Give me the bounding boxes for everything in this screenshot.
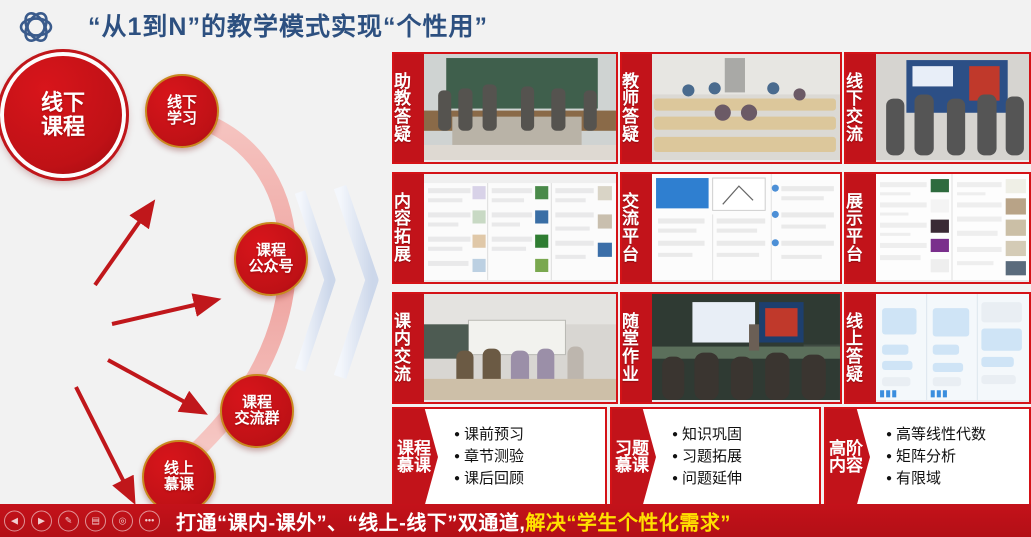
node-label-line1: 线下 [167, 95, 197, 111]
list-item: 课后回顾 [454, 468, 601, 490]
panel-cell-zhujiao-dayi[interactable]: 助教答疑 [392, 52, 618, 164]
node-label-line1: 课程 [242, 395, 272, 411]
mooc-cell-course-mooc[interactable]: 课程慕课 课前预习 章节测验 课后回顾 [392, 407, 607, 507]
panel-cell-jiaoliu-pingtai[interactable]: 交流平台 [620, 172, 842, 284]
panel-cell-xianshang-dayi[interactable]: 线上答疑 [844, 292, 1031, 404]
center-node-line1: 线下 [41, 91, 85, 115]
mooc-label-chevron: 习题慕课 [612, 409, 656, 505]
teacher-screen-photo [652, 294, 840, 402]
evidence-panel-grid: 助教答疑 教师答疑 [392, 52, 1031, 507]
panel-cell-neirong-tuozhan[interactable]: 内容拓展 [392, 172, 618, 284]
panel-label-text: 教师答疑 [622, 73, 652, 144]
list-item: 课前预习 [454, 424, 601, 446]
panel-cell-suitang-zuoye[interactable]: 随堂作业 [620, 292, 842, 404]
footer-slogan: 打通“课内-课外”、“线上-线下”双通道,解决“学生个性化需求” [176, 506, 731, 535]
mooc-label-chevron: 高阶内容 [826, 409, 870, 505]
previous-slide-button[interactable]: ◀ [4, 510, 25, 531]
node-label-line2: 交流群 [234, 411, 279, 427]
diagram-center-node: 线下 课程 [0, 52, 126, 178]
panel-label-vertical: 展示平台 [846, 174, 876, 282]
panel-label-text: 课内交流 [394, 313, 424, 384]
mooc-bullet-list: 课前预习 章节测验 课后回顾 [438, 409, 605, 505]
list-item: 有限域 [886, 468, 1025, 490]
panel-label-text: 助教答疑 [394, 73, 424, 144]
panel-cell-jiaoshi-dayi[interactable]: 教师答疑 [620, 52, 842, 164]
presentation-controls: ◀ ▶ ✎ ▤ ◎ ••• [4, 510, 160, 531]
panel-row-4: 课程慕课 课前预习 章节测验 课后回顾 习题慕课 知识巩固 [392, 407, 1031, 507]
qa-chat-screenshot [876, 294, 1029, 402]
panel-label-vertical: 助教答疑 [394, 54, 424, 162]
classroom-blackboard-photo [424, 54, 616, 162]
list-item: 章节测验 [454, 446, 601, 468]
panel-label-text: 线下交流 [846, 73, 876, 144]
zoom-button[interactable]: ◎ [112, 510, 133, 531]
mooc-label-text: 课程慕课 [397, 440, 438, 475]
flow-chevron-icon [300, 187, 372, 377]
list-item: 高等线性代数 [886, 424, 1025, 446]
mooc-bullet-list: 高等线性代数 矩阵分析 有限域 [870, 409, 1029, 505]
chat-group-screenshot [652, 174, 840, 282]
node-label-line2: 公众号 [248, 259, 293, 275]
smartboard-discussion-photo [876, 54, 1029, 162]
mooc-label-text: 习题慕课 [615, 440, 656, 475]
node-label-line2: 学习 [167, 111, 197, 127]
diagram-node-offline-study: 线下 学习 [145, 74, 219, 148]
panel-label-text: 交流平台 [622, 193, 652, 264]
more-options-button[interactable]: ••• [139, 510, 160, 531]
list-item: 知识巩固 [672, 424, 815, 446]
panel-label-vertical: 交流平台 [622, 174, 652, 282]
article-feed-screenshot [876, 174, 1029, 282]
panel-label-text: 线上答疑 [846, 313, 876, 384]
atom-logo-icon [14, 7, 58, 47]
panel-label-text: 内容拓展 [394, 193, 424, 264]
node-label-line2: 慕课 [164, 477, 194, 493]
diagram-node-online-mooc: 线上 慕课 [142, 440, 216, 514]
mooc-bullet-list: 知识巩固 习题拓展 问题延伸 [656, 409, 819, 505]
diagram-node-course-group: 课程 交流群 [220, 374, 294, 448]
next-slide-button[interactable]: ▶ [31, 510, 52, 531]
node-label-line1: 线上 [164, 461, 194, 477]
center-node-line2: 课程 [41, 115, 85, 139]
classroom-group-photo [424, 294, 616, 402]
panel-label-vertical: 线上答疑 [846, 294, 876, 402]
list-item: 习题拓展 [672, 446, 815, 468]
footer-banner: ◀ ▶ ✎ ▤ ◎ ••• 打通“课内-课外”、“线上-线下”双通道,解决“学生… [0, 504, 1031, 537]
panel-label-text: 展示平台 [846, 193, 876, 264]
mooc-cell-advanced-content[interactable]: 高阶内容 高等线性代数 矩阵分析 有限域 [824, 407, 1031, 507]
lecture-hall-seats-photo [652, 54, 840, 162]
footer-slogan-highlight: 解决“学生个性化需求” [525, 512, 731, 534]
teaching-model-diagram: 线下 课程 线下 学习 课程 公众号 课程 交流群 线上 慕课 [0, 52, 390, 504]
panel-label-vertical: 线下交流 [846, 54, 876, 162]
list-item: 问题延伸 [672, 468, 815, 490]
slide-header: “从1到N”的教学模式实现“个性用” [0, 0, 1031, 52]
panel-row-2: 内容拓展 [392, 172, 1031, 284]
panel-label-vertical: 课内交流 [394, 294, 424, 402]
diagram-node-course-wechat: 课程 公众号 [234, 222, 308, 296]
wechat-article-list-screenshot [424, 174, 616, 282]
panel-cell-xianxia-jiaoliu[interactable]: 线下交流 [844, 52, 1031, 164]
mooc-label-text: 高阶内容 [829, 440, 870, 475]
panel-cell-kenei-jiaoliu[interactable]: 课内交流 [392, 292, 618, 404]
list-item: 矩阵分析 [886, 446, 1025, 468]
panel-row-3: 课内交流 随堂作业 [392, 292, 1031, 404]
page-title: “从1到N”的教学模式实现“个性用” [88, 8, 488, 46]
mooc-label-chevron: 课程慕课 [394, 409, 438, 505]
panel-label-vertical: 随堂作业 [622, 294, 652, 402]
slide-overview-button[interactable]: ▤ [85, 510, 106, 531]
panel-row-1: 助教答疑 教师答疑 [392, 52, 1031, 164]
slide-canvas: “从1到N”的教学模式实现“个性用” [0, 0, 1031, 537]
node-label-line1: 课程 [256, 243, 286, 259]
footer-slogan-white: 打通“课内-课外”、“线上-线下”双通道, [176, 512, 525, 534]
panel-cell-zhanshi-pingtai[interactable]: 展示平台 [844, 172, 1031, 284]
panel-label-text: 随堂作业 [622, 313, 652, 384]
panel-label-vertical: 内容拓展 [394, 174, 424, 282]
pen-tool-button[interactable]: ✎ [58, 510, 79, 531]
panel-label-vertical: 教师答疑 [622, 54, 652, 162]
mooc-cell-exercise-mooc[interactable]: 习题慕课 知识巩固 习题拓展 问题延伸 [610, 407, 821, 507]
